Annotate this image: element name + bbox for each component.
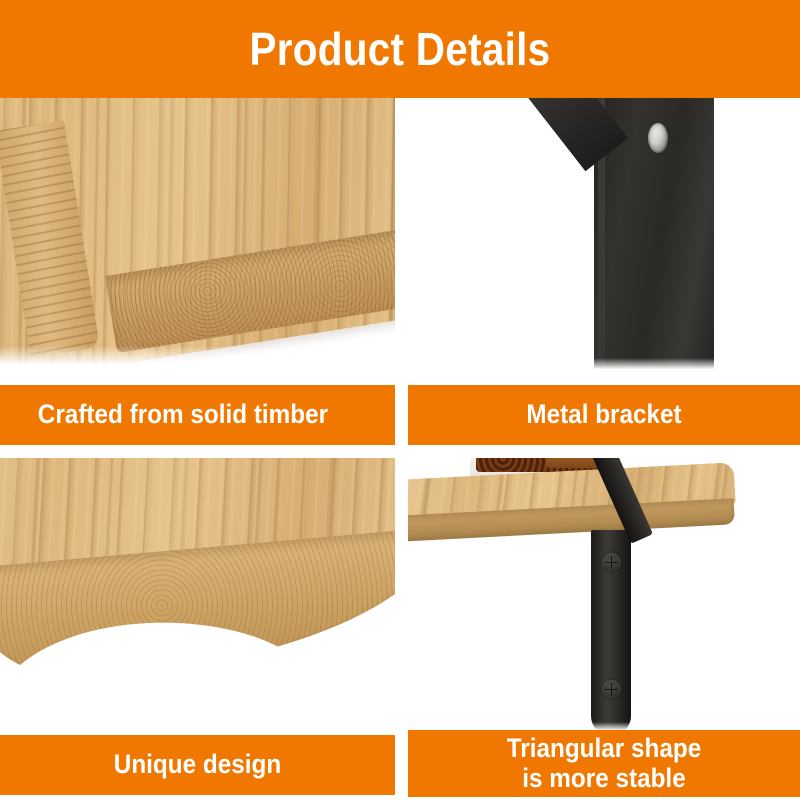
photo-solid-timber <box>0 98 395 370</box>
photo-bottom-fade <box>408 358 800 370</box>
caption-band-unique-design: Unique design <box>0 735 395 795</box>
photo-triangular-bracket <box>408 458 800 730</box>
caption-solid-timber: Crafted from solid timber <box>0 400 328 429</box>
caption-unique-design: Unique design <box>20 750 376 779</box>
cell-triangular-shape: Triangular shape is more stable <box>408 458 800 800</box>
bracket-screw-hole <box>648 123 668 153</box>
caption-band-triangular-shape: Triangular shape is more stable <box>408 730 800 797</box>
cell-solid-timber: Crafted from solid timber <box>0 98 395 445</box>
bracket-screw-upper <box>602 553 621 572</box>
caption-metal-bracket: Metal bracket <box>428 400 781 429</box>
photo-unique-design <box>0 458 395 730</box>
photo-bottom-fade <box>0 712 395 730</box>
caption-band-metal-bracket: Metal bracket <box>408 385 800 445</box>
product-details-infographic: Product Details Crafted from solid timbe… <box>0 0 800 800</box>
caption-band-solid-timber: Crafted from solid timber <box>0 385 395 445</box>
caption-triangular-shape: Triangular shape is more stable <box>428 734 781 792</box>
photo-metal-bracket <box>408 98 800 370</box>
cell-unique-design: Unique design <box>0 458 395 800</box>
cell-metal-bracket: Metal bracket <box>408 98 800 445</box>
page-title: Product Details <box>250 26 551 72</box>
header-banner: Product Details <box>0 0 800 98</box>
photo-bottom-fade <box>0 346 395 370</box>
bracket-screw-lower <box>602 680 621 699</box>
photo-bottom-fade <box>408 722 800 730</box>
